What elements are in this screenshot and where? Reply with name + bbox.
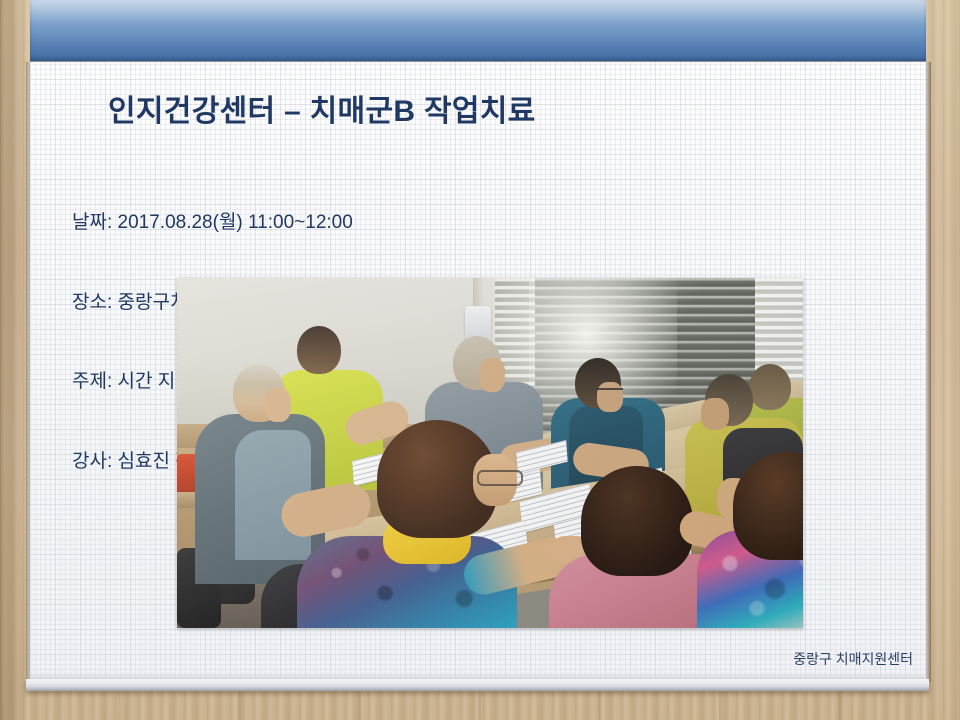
slide-footer: 중랑구 치매지원센터 [0, 649, 913, 669]
presentation-slide: 인지건강센터 – 치매군B 작업치료 날짜: 2017.08.28(월) 11:… [0, 0, 960, 720]
detail-date: 날짜: 2017.08.28(월) 11:00~12:00 [72, 210, 355, 237]
paper-stack-edge [26, 679, 929, 691]
wood-left-shading [0, 0, 26, 720]
page-title: 인지건강센터 – 치매군B 작업치료 [108, 86, 536, 130]
session-photo [177, 278, 803, 628]
photo-color-tone [177, 278, 803, 628]
banner-highlight [30, 0, 926, 24]
